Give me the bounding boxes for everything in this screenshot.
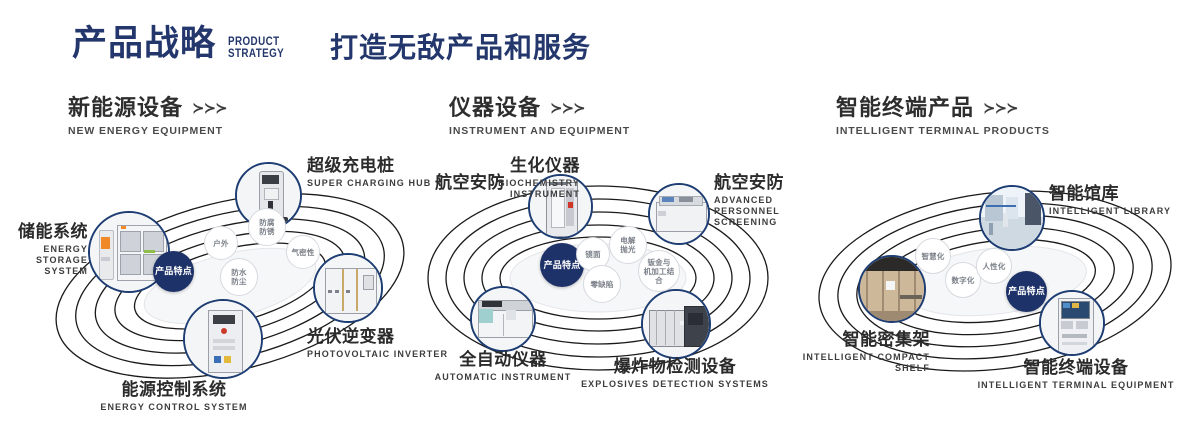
feature-bubble-label: 零缺陷 <box>590 280 613 289</box>
feature-bubble-label: 钣金与 机加工结合 <box>641 258 677 285</box>
group-heading-cn: 智能终端产品 <box>836 95 974 121</box>
feature-bubble-airtight: 气密性 <box>286 235 320 269</box>
core-bubble-label: 产品特点 <box>155 266 192 277</box>
node-label-terminal-equipment: 智能终端设备 INTELLIGENT TERMINAL EQUIPMENT <box>976 358 1176 391</box>
node-label-en: AUTOMATIC INSTRUMENT <box>408 372 598 383</box>
group-heading-cn: 仪器设备 <box>449 95 541 121</box>
feature-bubble-label: 电解 抛光 <box>620 236 635 254</box>
node-terminal-equipment[interactable] <box>1039 290 1105 356</box>
control-cabinet-icon <box>185 301 261 377</box>
group-heading-instrument: 仪器设备≻≻≻ INSTRUMENT AND EQUIPMENT <box>449 95 630 137</box>
feature-bubble-label: 镜面 <box>585 250 600 259</box>
node-label-cn: 智能密集架 <box>770 330 930 350</box>
node-label-en: EXPLOSIVES DETECTION SYSTEMS <box>580 379 770 390</box>
node-label-en: ENERGY CONTROL SYSTEM <box>69 402 279 413</box>
node-label-intelligent-library: 智能馆库 INTELLIGENT LIBRARY <box>1049 184 1171 217</box>
page-title-en-line2: STRATEGY <box>228 47 284 59</box>
node-label-cn: 储能系统 <box>0 222 88 242</box>
infographic-canvas: 产品战略 PRODUCT STRATEGY 打造无敌产品和服务 新能源设备≻≻≻… <box>0 0 1200 422</box>
feature-bubble-humanized: 人性化 <box>976 248 1012 284</box>
feature-bubble-anticorrosion: 防腐 防锈 <box>248 208 286 246</box>
compact-shelf-icon <box>860 257 924 321</box>
node-label-cn: 智能终端设备 <box>976 358 1176 378</box>
orbit-diagram-terminal: 智能馆库 INTELLIGENT LIBRARY 智能密集架 INTELLIGE… <box>790 150 1200 422</box>
node-energy-control[interactable] <box>183 299 263 379</box>
node-advanced-screening[interactable] <box>648 183 710 245</box>
node-pv-inverter[interactable] <box>313 253 383 323</box>
page-title-cn: 产品战略 <box>72 26 216 61</box>
node-label-compact-shelf: 智能密集架 INTELLIGENT COMPACT SHELF <box>770 330 930 374</box>
group-heading-cn: 新能源设备 <box>68 95 183 121</box>
node-label-en: INTELLIGENT LIBRARY <box>1049 206 1171 217</box>
node-compact-shelf[interactable] <box>858 255 926 323</box>
orbit-diagram-instrument: 航空安防 生化仪器 BIOCHEMISTRY INSTRUMENT 航空安防 A… <box>400 150 800 422</box>
node-label-energy-storage: 储能系统 ENERGY STORAGE SYSTEM <box>0 222 88 277</box>
group-heading-en: NEW ENERGY EQUIPMENT <box>68 125 227 137</box>
automatic-analyzer-icon <box>472 288 534 350</box>
core-bubble-product-features: 产品特点 <box>1006 271 1047 312</box>
node-explosives-detection[interactable] <box>641 289 711 359</box>
inverter-cabinet-icon <box>315 255 381 321</box>
core-bubble-label: 产品特点 <box>1008 286 1045 297</box>
chevron-right-icon: ≻≻≻ <box>550 99 585 117</box>
feature-bubble-label: 智慧化 <box>921 252 944 261</box>
node-label-cn: 智能馆库 <box>1049 184 1171 204</box>
feature-bubble-smart: 智慧化 <box>915 238 951 274</box>
feature-bubble-label: 防腐 防锈 <box>259 218 274 236</box>
node-label-cn: 航空安防 <box>714 173 802 193</box>
node-label-cn: 全自动仪器 <box>408 350 598 370</box>
node-label-energy-control: 能源控制系统 ENERGY CONTROL SYSTEM <box>69 380 279 413</box>
node-label-cn: 生化仪器 <box>462 156 580 176</box>
node-label-explosives-detection: 爆炸物检测设备 EXPLOSIVES DETECTION SYSTEMS <box>580 357 770 390</box>
node-label-en: BIOCHEMISTRY INSTRUMENT <box>462 178 580 200</box>
core-bubble-label: 产品特点 <box>544 260 581 271</box>
page-title-en: PRODUCT STRATEGY <box>228 35 284 59</box>
node-label-cn: 爆炸物检测设备 <box>580 357 770 377</box>
library-interior-icon <box>981 187 1043 249</box>
feature-bubble-label: 户外 <box>213 239 228 248</box>
group-heading-terminal: 智能终端产品≻≻≻ INTELLIGENT TERMINAL PRODUCTS <box>836 95 1050 137</box>
group-heading-en: INTELLIGENT TERMINAL PRODUCTS <box>836 125 1050 137</box>
group-heading-en: INSTRUMENT AND EQUIPMENT <box>449 125 630 137</box>
node-label-en: INTELLIGENT TERMINAL EQUIPMENT <box>976 380 1176 391</box>
node-label-en: ENERGY STORAGE SYSTEM <box>0 244 88 277</box>
feature-bubble-label: 人性化 <box>982 262 1005 271</box>
feature-bubble-outdoor: 户外 <box>204 226 238 260</box>
feature-bubble-label: 气密性 <box>291 248 314 257</box>
feature-bubble-sheetmetal-machining: 钣金与 机加工结合 <box>638 250 680 292</box>
core-bubble-product-features: 产品特点 <box>153 251 194 292</box>
node-intelligent-library[interactable] <box>979 185 1045 251</box>
node-label-en: INTELLIGENT COMPACT SHELF <box>770 352 930 374</box>
node-label-automatic-instrument: 全自动仪器 AUTOMATIC INSTRUMENT <box>408 350 598 383</box>
feature-bubble-label: 数字化 <box>951 276 974 285</box>
node-label-biochemistry: 生化仪器 BIOCHEMISTRY INSTRUMENT <box>462 156 580 200</box>
explosive-detector-icon <box>643 291 709 357</box>
chevron-right-icon: ≻≻≻ <box>192 99 227 117</box>
node-label-cn: 能源控制系统 <box>69 380 279 400</box>
feature-bubble-waterproof: 防水 防尘 <box>220 258 258 296</box>
orbit-diagram-new-energy: 储能系统 ENERGY STORAGE SYSTEM 超级充电桩 SUPER C… <box>30 150 430 422</box>
screening-machine-icon <box>650 185 708 243</box>
chevron-right-icon: ≻≻≻ <box>983 99 1018 117</box>
page-subtitle: 打造无敌产品和服务 <box>330 34 591 62</box>
feature-bubble-zero-defect: 零缺陷 <box>583 265 621 303</box>
feature-bubble-label: 防水 防尘 <box>231 268 246 286</box>
self-service-kiosk-icon <box>1041 292 1103 354</box>
node-automatic-instrument[interactable] <box>470 286 536 352</box>
node-label-advanced-screening: 航空安防 ADVANCED PERSONNEL SCREENING <box>714 173 802 228</box>
group-heading-new-energy: 新能源设备≻≻≻ NEW ENERGY EQUIPMENT <box>68 95 227 137</box>
page-title: 产品战略 PRODUCT STRATEGY <box>72 26 296 61</box>
node-label-en: ADVANCED PERSONNEL SCREENING <box>714 195 802 228</box>
